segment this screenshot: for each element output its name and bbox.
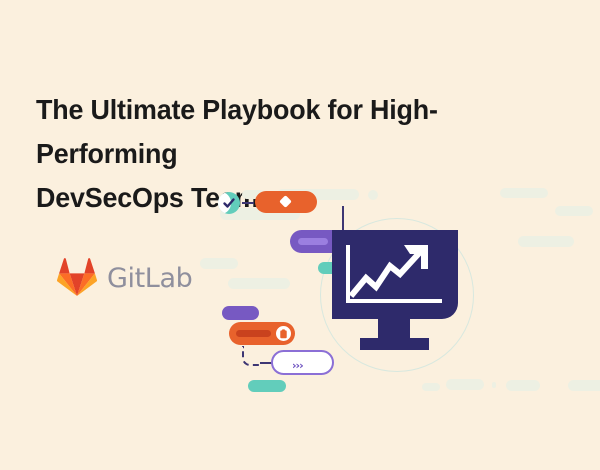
dashed-connector: [242, 202, 254, 204]
decorative-bar: [518, 236, 574, 247]
pipeline-run-pill[interactable]: ›››: [271, 350, 334, 375]
dashed-connector: [242, 346, 262, 366]
check-icon: [218, 192, 240, 214]
decorative-bar: [200, 258, 238, 269]
pipeline-stage-orange-left: [229, 322, 295, 345]
decorative-bar: [422, 383, 440, 391]
decorative-bar: [568, 380, 600, 391]
growth-chart-arrow-icon: [340, 238, 455, 308]
gitlab-logo: GitLab: [57, 258, 192, 301]
decorative-bar: [228, 278, 290, 289]
devsecops-pipeline-illustration: ›››: [200, 180, 600, 410]
pipeline-stage-orange-top: [255, 191, 317, 213]
decorative-bar: [368, 190, 378, 200]
clipboard-badge: [276, 326, 291, 341]
diamond-icon: [279, 195, 292, 208]
gitlab-wordmark: GitLab: [107, 265, 192, 294]
pipeline-stage-purple-left: [222, 306, 259, 320]
chevrons-right-icon: ›››: [292, 360, 303, 371]
decorative-bar: [492, 382, 496, 388]
stage-inner-bar: [298, 238, 328, 245]
stage-inner-bar: [236, 330, 271, 337]
decorative-bar: [555, 206, 593, 216]
status-check-node: [218, 192, 240, 214]
promo-banner: The Ultimate Playbook for High-Performin…: [0, 0, 600, 470]
accent-pill-teal-bottom: [248, 380, 286, 392]
gitlab-tanuki-icon: [57, 258, 97, 301]
monitor-base: [360, 338, 429, 350]
decorative-bar: [500, 188, 548, 198]
clipboard-icon: [279, 329, 288, 339]
decorative-bar: [506, 380, 540, 391]
decorative-bar: [446, 379, 484, 390]
